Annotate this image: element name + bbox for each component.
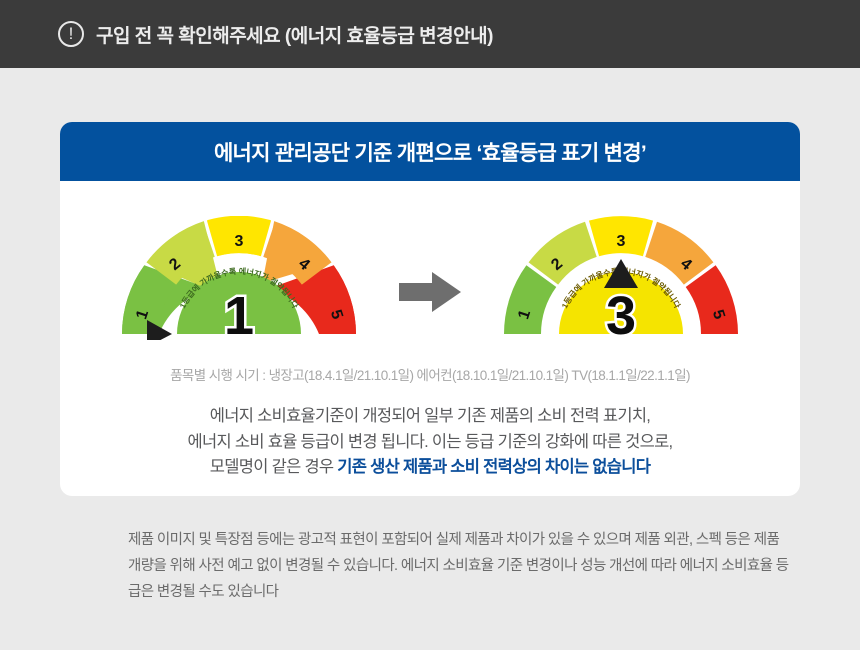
body-line-3-emphasis: 기존 생산 제품과 소비 전력상의 차이는 없습니다 (337, 458, 650, 476)
body-line-3: 모델명이 같은 경우 기존 생산 제품과 소비 전력상의 차이는 없습니다 (60, 455, 800, 481)
card-header-banner: 에너지 관리공단 기준 개편으로 ‘효율등급 표기 변경’ (60, 122, 800, 181)
page-header-bar: ! 구입 전 꼭 확인해주세요 (에너지 효율등급 변경안내) (0, 0, 860, 68)
gauge-after-grade: 3 (606, 286, 636, 340)
body-line-1: 에너지 소비효율기준이 개정되어 일부 기존 제품의 소비 전력 표기치, (60, 404, 800, 430)
body-copy: 에너지 소비효율기준이 개정되어 일부 기존 제품의 소비 전력 표기치, 에너… (60, 404, 800, 481)
gauge-after-label-3: 3 (617, 233, 626, 250)
schedule-note: 품목별 시행 시기 : 냉장고(18.4.1일/21.10.1일) 에어컨(18… (60, 364, 800, 384)
disclaimer-text: 제품 이미지 및 특장점 등에는 광고적 표현이 포함되어 실제 제품과 차이가… (128, 528, 794, 605)
gauge-before-grade: 1 (224, 286, 254, 340)
info-card: 에너지 관리공단 기준 개편으로 ‘효율등급 표기 변경’ (60, 122, 800, 496)
body-line-2: 에너지 소비 효율 등급이 변경 됩니다. 이는 등급 기준의 강화에 따른 것… (60, 430, 800, 456)
energy-gauge-after: 1 2 3 4 5 1등급에 가까울수록 에너지가 절약됩니다 3 (503, 216, 739, 340)
card-header-title: 에너지 관리공단 기준 개편으로 ‘효율등급 표기 변경’ (214, 137, 646, 167)
body-line-3-prefix: 모델명이 같은 경우 (210, 458, 338, 476)
page-title: 구입 전 꼭 확인해주세요 (에너지 효율등급 변경안내) (96, 21, 493, 48)
gauge-comparison-row: 1 2 3 4 5 1등급에 가까울수록 에너지가 절약됩니다 1 (60, 198, 800, 358)
exclamation-circle-icon: ! (58, 21, 84, 47)
right-arrow-icon (399, 272, 461, 312)
exclamation-glyph: ! (69, 25, 74, 42)
gauge-before-label-3: 3 (235, 233, 244, 250)
energy-gauge-before: 1 2 3 4 5 1등급에 가까울수록 에너지가 절약됩니다 1 (121, 216, 357, 340)
